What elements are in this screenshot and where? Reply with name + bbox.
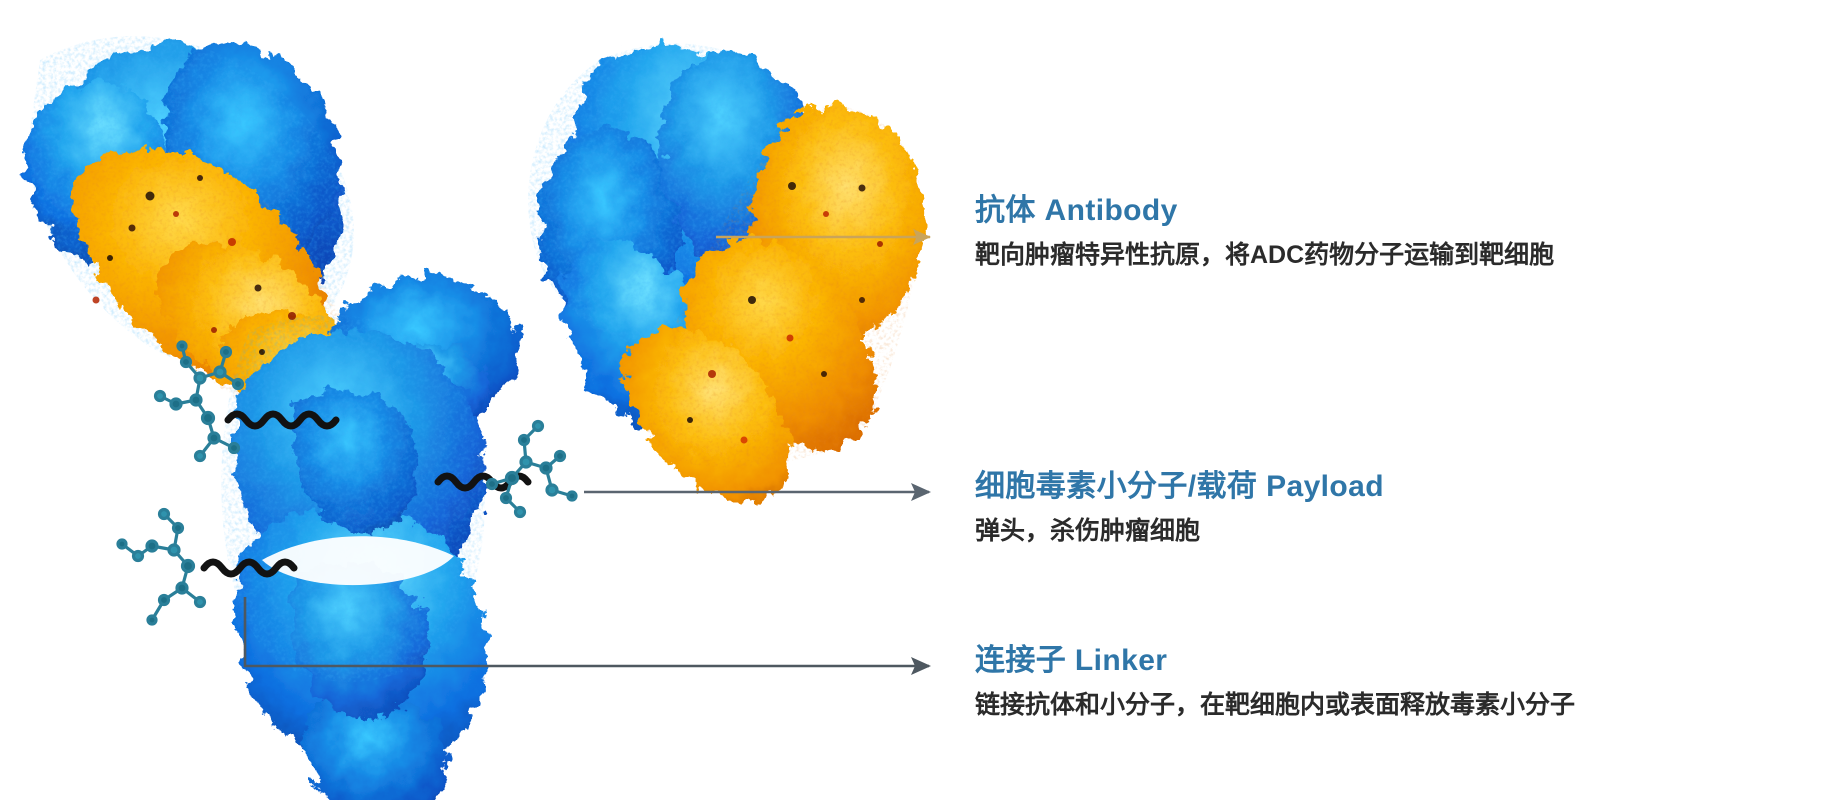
callout-payload: 细胞毒素小分子/载荷 Payload 弹头，杀伤肿瘤细胞 bbox=[975, 468, 1384, 548]
callout-antibody-title: 抗体 Antibody bbox=[975, 192, 1554, 230]
adc-structure-figure: 抗体 Antibody 靶向肿瘤特异性抗原，将ADC药物分子运输到靶细胞 细胞毒… bbox=[0, 0, 1831, 800]
callout-linker-title: 连接子 Linker bbox=[975, 642, 1575, 680]
callout-antibody: 抗体 Antibody 靶向肿瘤特异性抗原，将ADC药物分子运输到靶细胞 bbox=[975, 192, 1554, 272]
callout-payload-title: 细胞毒素小分子/载荷 Payload bbox=[975, 468, 1384, 506]
callout-text-layer: 抗体 Antibody 靶向肿瘤特异性抗原，将ADC药物分子运输到靶细胞 细胞毒… bbox=[0, 0, 1831, 800]
callout-payload-description: 弹头，杀伤肿瘤细胞 bbox=[975, 515, 1384, 549]
callout-linker-description: 链接抗体和小分子，在靶细胞内或表面释放毒素小分子 bbox=[975, 689, 1575, 723]
callout-antibody-description: 靶向肿瘤特异性抗原，将ADC药物分子运输到靶细胞 bbox=[975, 239, 1554, 273]
callout-linker: 连接子 Linker 链接抗体和小分子，在靶细胞内或表面释放毒素小分子 bbox=[975, 642, 1575, 722]
